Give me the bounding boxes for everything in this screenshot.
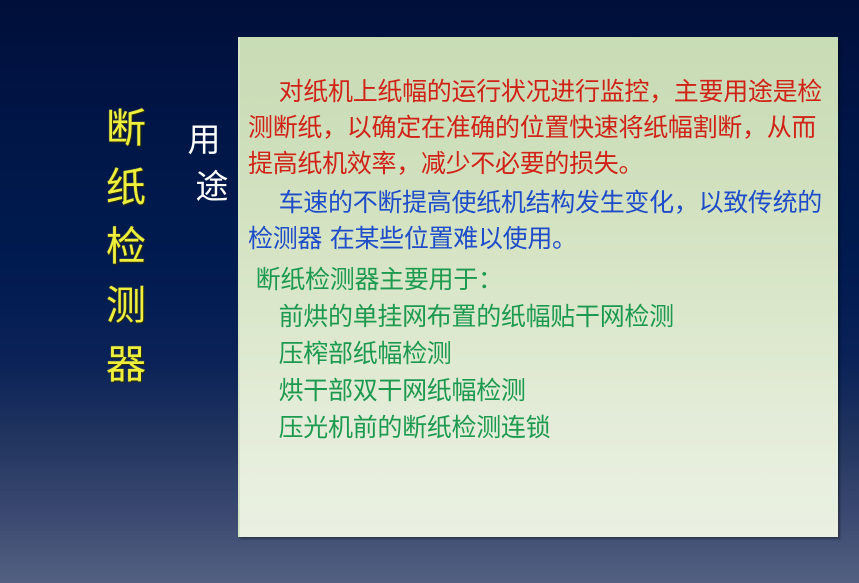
application-item-2: 压榨部纸幅检测 bbox=[248, 336, 828, 372]
subtitle-char-2: 途 bbox=[196, 163, 229, 210]
vertical-title: 断 纸 检 测 器 bbox=[93, 108, 159, 386]
background-paragraph: 车速的不断提高使纸机结构发生变化，以致传统的检测器 在某些位置难以使用。 bbox=[248, 185, 828, 257]
vertical-title-char-4: 测 bbox=[106, 285, 146, 327]
vertical-title-char-2: 纸 bbox=[106, 167, 146, 209]
content-panel: 对纸机上纸幅的运行状况进行监控，主要用途是检测断纸，以确定在准确的位置快速将纸幅… bbox=[238, 37, 838, 537]
application-item-3: 烘干部双干网纸幅检测 bbox=[248, 373, 828, 409]
application-item-1: 前烘的单挂网布置的纸幅贴干网检测 bbox=[248, 299, 828, 335]
applications-heading: 断纸检测器主要用于： bbox=[248, 262, 828, 298]
application-item-4: 压光机前的断纸检测连锁 bbox=[248, 410, 828, 446]
subtitle-label: 用 途 bbox=[179, 116, 229, 210]
vertical-title-char-1: 断 bbox=[106, 108, 146, 150]
purpose-paragraph: 对纸机上纸幅的运行状况进行监控，主要用途是检测断纸，以确定在准确的位置快速将纸幅… bbox=[248, 74, 828, 182]
vertical-title-char-3: 检 bbox=[106, 226, 146, 268]
subtitle-char-1: 用 bbox=[188, 116, 221, 163]
vertical-title-char-5: 器 bbox=[106, 344, 146, 386]
slide-canvas: 断 纸 检 测 器 用 途 对纸机上纸幅的运行状况进行监控，主要用途是检测断纸，… bbox=[0, 0, 859, 583]
